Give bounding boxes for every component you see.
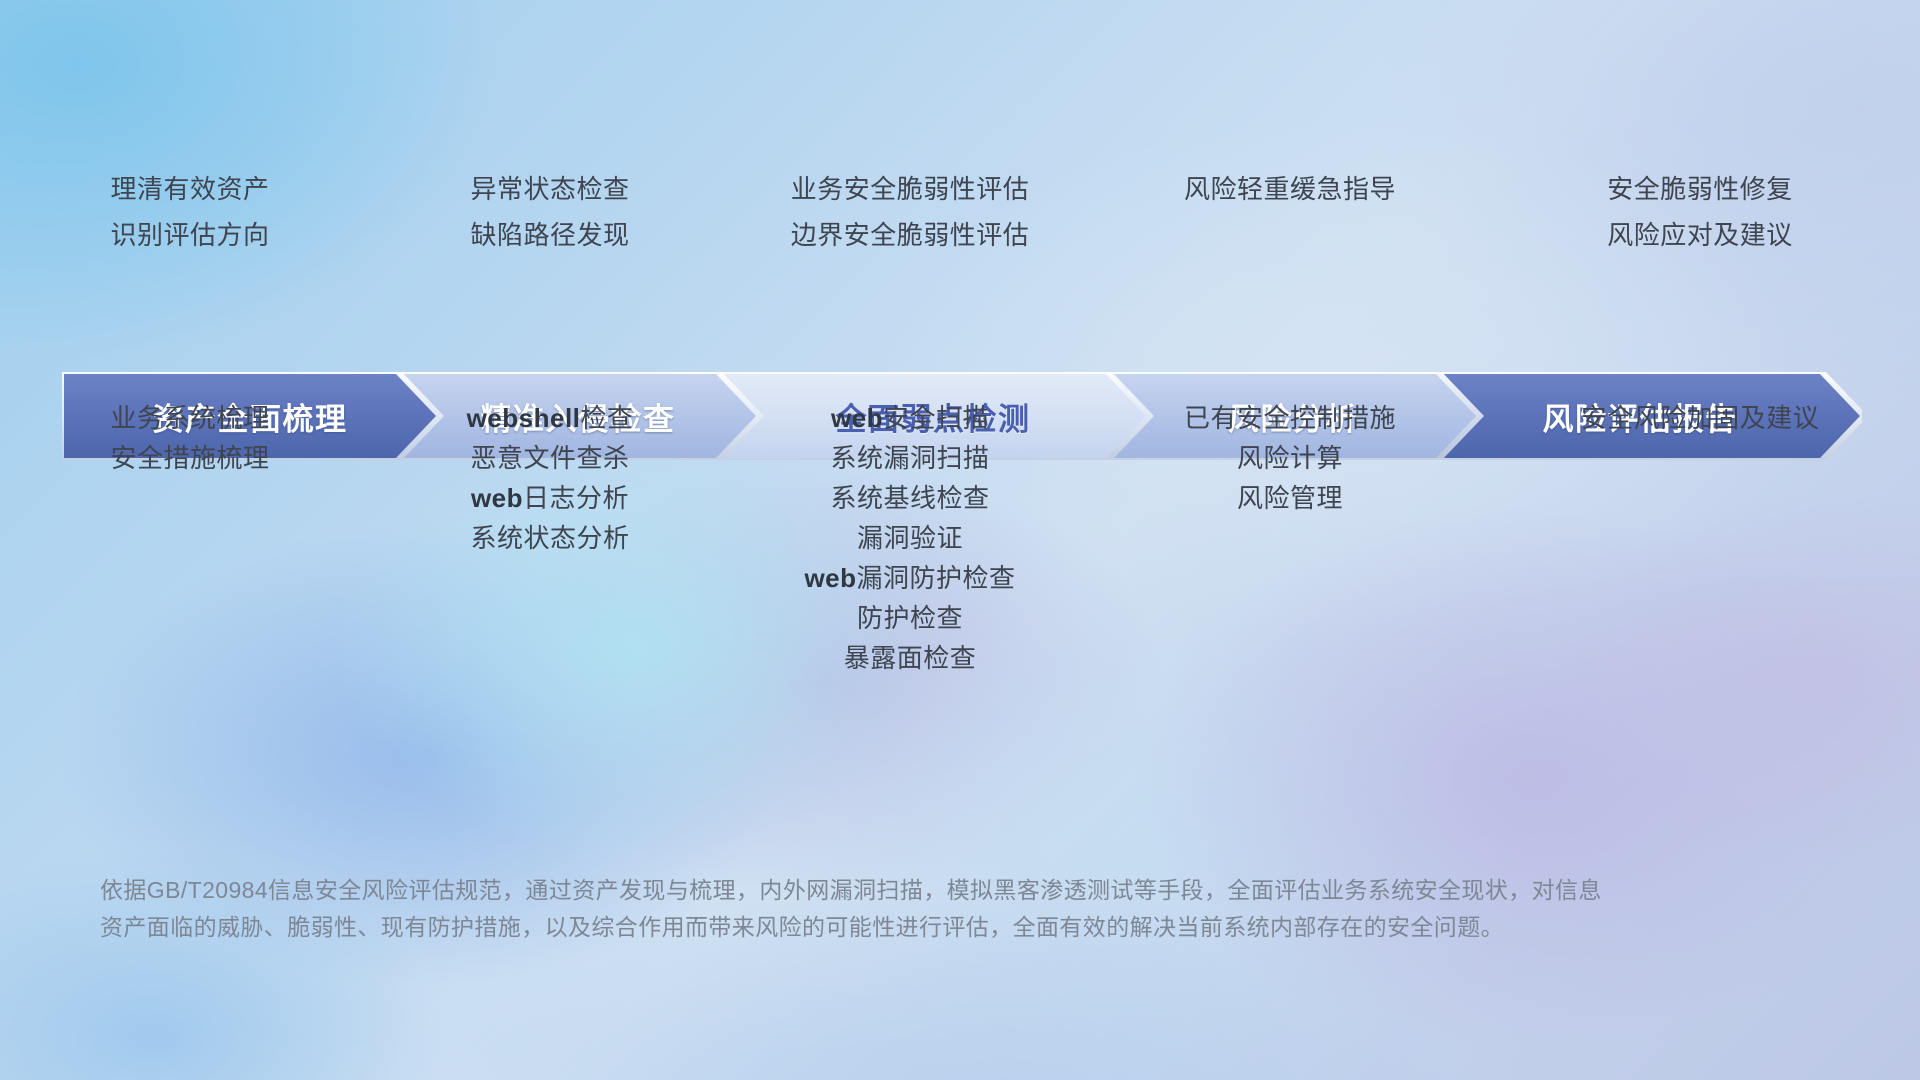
footer-line-1: 依据GB/T20984信息安全风险评估规范，通过资产发现与梳理，内外网漏洞扫描，… xyxy=(100,872,1830,909)
stage-items-column-3: web安全扫描 系统漏洞扫描 系统基线检查 漏洞验证 web漏洞防护检查 防护检… xyxy=(720,405,1100,685)
stage-items-column-4: 已有安全控制措施 风险计算 风险管理 xyxy=(1100,405,1480,525)
list-item: 防护检查 xyxy=(857,605,963,631)
list-item: 暴露面检查 xyxy=(844,645,977,671)
list-item: 系统漏洞扫描 xyxy=(830,445,989,471)
list-item: 系统状态分析 xyxy=(470,525,629,551)
stage-items-column-5: 安全风险加固及建议 xyxy=(1480,405,1920,445)
stage-items-column-2: webshell检查 恶意文件查杀 web日志分析 系统状态分析 xyxy=(380,405,720,565)
top-note: 识别评估方向 xyxy=(110,222,269,248)
list-item: 安全风险加固及建议 xyxy=(1581,405,1820,431)
footer-description: 依据GB/T20984信息安全风险评估规范，通过资产发现与梳理，内外网漏洞扫描，… xyxy=(100,872,1830,946)
top-note: 异常状态检查 xyxy=(470,176,629,202)
top-note: 安全脆弱性修复 xyxy=(1607,176,1793,202)
top-notes-column-5: 安全脆弱性修复 风险应对及建议 xyxy=(1480,176,1920,286)
list-item: 已有安全控制措施 xyxy=(1184,405,1396,431)
stage-items-column-1: 业务系统梳理 安全措施梳理 xyxy=(0,405,380,485)
top-note: 理清有效资产 xyxy=(110,176,269,202)
top-note: 缺陷路径发现 xyxy=(470,222,629,248)
list-item: 恶意文件查杀 xyxy=(470,445,629,471)
footer-line-2: 资产面临的威胁、脆弱性、现有防护措施，以及综合作用而带来风险的可能性进行评估，全… xyxy=(100,909,1830,946)
top-note: 风险应对及建议 xyxy=(1607,222,1793,248)
list-item: 风险计算 xyxy=(1237,445,1343,471)
top-note: 边界安全脆弱性评估 xyxy=(791,222,1030,248)
stage-items-row: 业务系统梳理 安全措施梳理 webshell检查 恶意文件查杀 web日志分析 … xyxy=(0,405,1920,685)
list-item: web漏洞防护检查 xyxy=(804,565,1015,591)
top-note: 业务安全脆弱性评估 xyxy=(791,176,1030,202)
list-item: web安全扫描 xyxy=(831,405,989,431)
list-item: 业务系统梳理 xyxy=(110,405,269,431)
list-item: 系统基线检查 xyxy=(830,485,989,511)
list-item: webshell检查 xyxy=(467,405,634,431)
top-notes-column-3: 业务安全脆弱性评估 边界安全脆弱性评估 xyxy=(720,176,1100,286)
list-item: 漏洞验证 xyxy=(857,525,963,551)
list-item: 风险管理 xyxy=(1237,485,1343,511)
top-notes-column-2: 异常状态检查 缺陷路径发现 xyxy=(380,176,720,286)
list-item: web日志分析 xyxy=(471,485,629,511)
list-item: 安全措施梳理 xyxy=(110,445,269,471)
top-notes-column-1: 理清有效资产 识别评估方向 xyxy=(0,176,380,286)
top-notes-column-4: 风险轻重缓急指导 xyxy=(1100,176,1480,286)
top-note: 风险轻重缓急指导 xyxy=(1184,176,1396,202)
top-notes-row: 理清有效资产 识别评估方向 异常状态检查 缺陷路径发现 业务安全脆弱性评估 边界… xyxy=(0,176,1920,286)
